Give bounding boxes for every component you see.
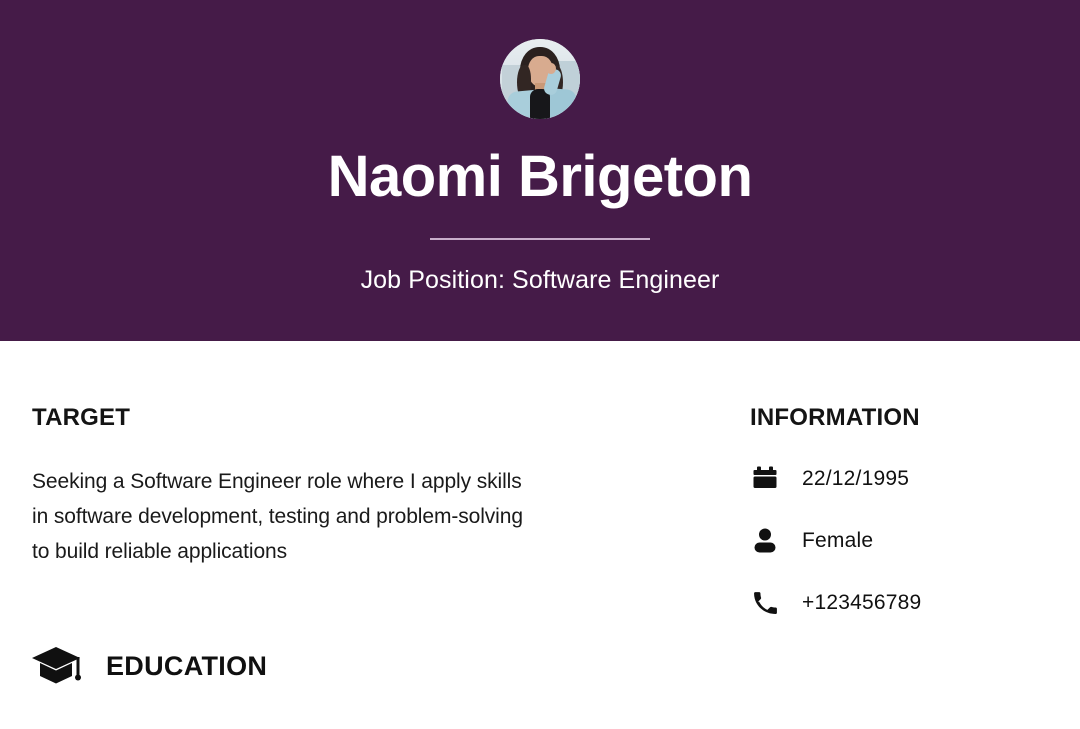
calendar-icon	[750, 464, 780, 494]
phone-icon	[750, 588, 780, 618]
information-row-phone: +123456789	[750, 588, 1050, 618]
information-heading: INFORMATION	[750, 404, 1050, 432]
job-position-subtitle: Job Position: Software Engineer	[361, 266, 720, 295]
avatar	[500, 39, 580, 119]
resume-page: Naomi Brigeton Job Position: Software En…	[0, 0, 1080, 729]
header-divider	[430, 238, 650, 240]
left-column: TARGET Seeking a Software Engineer role …	[32, 341, 692, 569]
right-column: INFORMATION 22/12/1995	[750, 341, 1050, 618]
education-section: EDUCATION	[32, 644, 267, 688]
information-value-phone: +123456789	[802, 591, 921, 615]
graduation-cap-icon	[32, 644, 88, 688]
person-icon	[750, 526, 780, 556]
information-value-gender: Female	[802, 529, 873, 553]
target-heading: TARGET	[32, 404, 692, 432]
resume-header: Naomi Brigeton Job Position: Software En…	[0, 0, 1080, 341]
avatar-hand	[546, 63, 556, 74]
information-value-birthdate: 22/12/1995	[802, 467, 909, 491]
information-row-birthdate: 22/12/1995	[750, 464, 1050, 494]
resume-body: TARGET Seeking a Software Engineer role …	[0, 341, 1080, 729]
page-title: Naomi Brigeton	[328, 148, 753, 206]
target-body-text: Seeking a Software Engineer role where I…	[32, 464, 692, 569]
information-row-gender: Female	[750, 526, 1050, 556]
education-heading: EDUCATION	[106, 651, 267, 682]
